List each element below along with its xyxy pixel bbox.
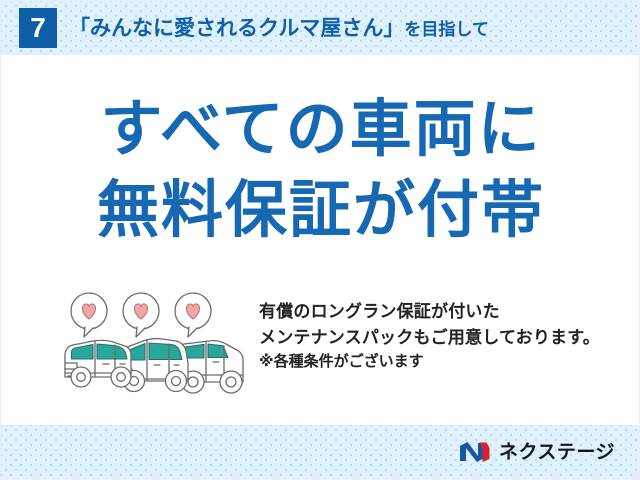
- speech-bubble-3: [175, 293, 211, 337]
- header-title: 「みんなに愛されるクルマ屋さん」を目指して: [69, 18, 489, 39]
- banner-canvas: 7 「みんなに愛されるクルマ屋さん」を目指して すべての車両に 無料保証が付帯: [0, 0, 640, 480]
- speech-bubble-1: [71, 293, 107, 337]
- footer-band: ネクステージ: [1, 425, 640, 479]
- header-title-quoted: 「みんなに愛されるクルマ屋さん」: [69, 17, 404, 40]
- headline-line-1: すべての車両に: [1, 97, 640, 164]
- headline: すべての車両に 無料保証が付帯: [1, 97, 640, 245]
- lower-section: 有償のロングラン保証が付いた メンテナンスパックもご用意しております。 ※各種条…: [1, 289, 640, 409]
- brand-wordmark: ネクステージ: [499, 443, 615, 462]
- copy-block: 有償のロングラン保証が付いた メンテナンスパックもご用意しております。 ※各種条…: [259, 299, 629, 373]
- headline-line-2: 無料保証が付帯: [1, 178, 640, 245]
- nextage-n-logo-icon: [458, 440, 492, 464]
- tall-wagon-car: [65, 340, 131, 387]
- section-number-badge: 7: [19, 8, 57, 48]
- copy-note: ※各種条件がございます: [259, 351, 629, 374]
- speech-bubble-2: [123, 293, 159, 337]
- cars-and-hearts-svg: [59, 289, 259, 401]
- copy-line-1: 有償のロングラン保証が付いた: [259, 299, 629, 325]
- header-title-tail: を目指して: [404, 20, 489, 39]
- header-content: 7 「みんなに愛されるクルマ屋さん」を目指して: [1, 1, 640, 55]
- cars-illustration: [59, 289, 259, 401]
- copy-line-2: メンテナンスパックもご用意しております。: [259, 325, 629, 351]
- header-band: 7 「みんなに愛されるクルマ屋さん」を目指して: [1, 1, 640, 55]
- brand-logo: ネクステージ: [458, 440, 615, 464]
